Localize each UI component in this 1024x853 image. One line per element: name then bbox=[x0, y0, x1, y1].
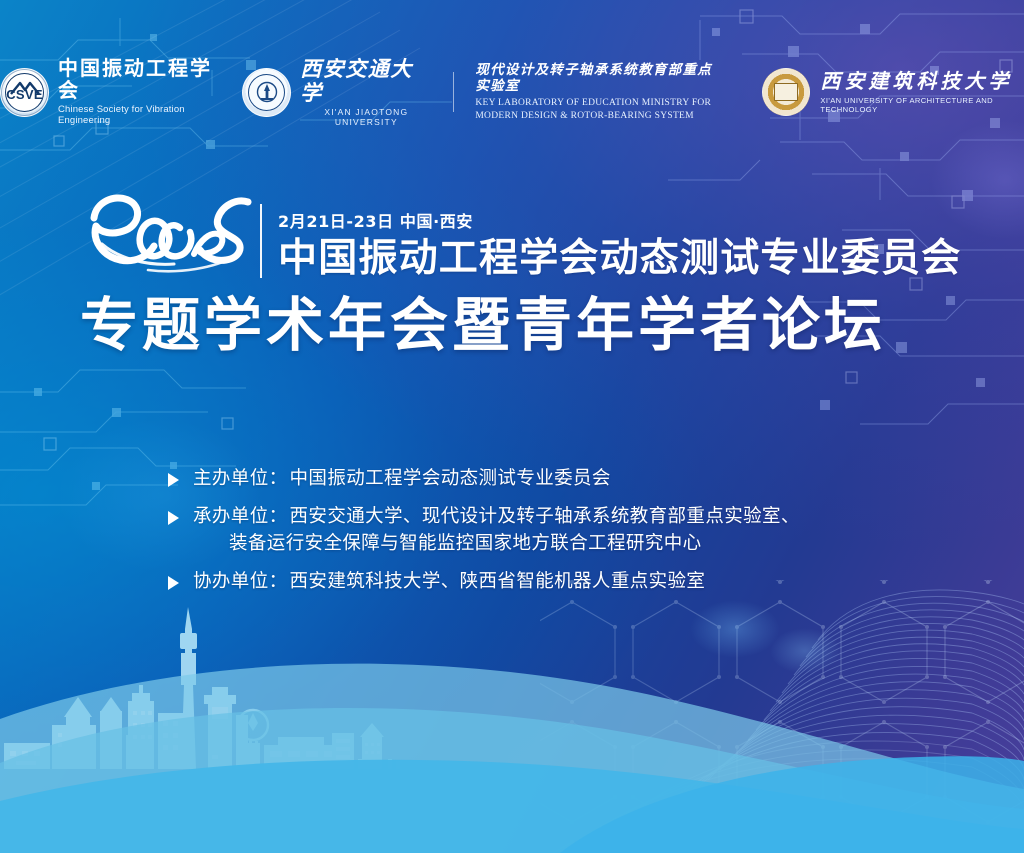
conference-poster: CSVE 中国振动工程学会 Chinese Society for Vibrat… bbox=[0, 0, 1024, 853]
year-script-logo-2025 bbox=[88, 188, 260, 280]
keylab-name-en-line2: MODERN DESIGN & ROTOR-BEARING SYSTEM bbox=[475, 110, 722, 123]
csve-name-en: Chinese Society for Vibration Engineerin… bbox=[58, 104, 216, 128]
keylab-name-en-line1: KEY LABORATORY OF EDUCATION MINISTRY FOR bbox=[475, 97, 722, 110]
title-block: 2月21日-23日 中国·西安 中国振动工程学会动态测试专业委员会 bbox=[0, 186, 1024, 280]
triangle-bullet-icon bbox=[168, 473, 182, 487]
xjtu-name-cn: 西安交通大学 bbox=[300, 57, 432, 103]
xauat-name-en: XI'AN UNIVERSITY OF ARCHITECTURE AND TEC… bbox=[820, 96, 1024, 114]
triangle-bullet-icon bbox=[168, 576, 182, 590]
csve-name-cn: 中国振动工程学会 bbox=[58, 57, 216, 102]
wave-shapes-bottom bbox=[0, 623, 1024, 853]
organizer-label: 协办单位： bbox=[193, 571, 288, 592]
xjtu-emblem-icon bbox=[242, 68, 291, 117]
logo-divider bbox=[453, 72, 454, 112]
headline-line-1: 中国振动工程学会动态测试专业委员会 bbox=[278, 239, 961, 278]
organizer-row: 承办单位：西安交通大学、现代设计及转子轴承系统教育部重点实验室、 装备运行安全保… bbox=[168, 504, 988, 557]
organizer-list: 主办单位：中国振动工程学会动态测试专业委员会 承办单位：西安交通大学、现代设计及… bbox=[168, 466, 988, 607]
logo-csve: CSVE 中国振动工程学会 Chinese Society for Vibrat… bbox=[0, 57, 216, 128]
year-script-logo-icon bbox=[88, 188, 260, 280]
headline-line-2: 专题学术年会暨青年学者论坛 bbox=[80, 296, 980, 354]
organizer-row: 协办单位：西安建筑科技大学、陕西省智能机器人重点实验室 bbox=[168, 569, 988, 595]
triangle-bullet-icon bbox=[168, 511, 182, 525]
csve-emblem-icon: CSVE bbox=[0, 68, 49, 117]
csve-badge-text: CSVE bbox=[6, 87, 43, 102]
organizer-label: 承办单位： bbox=[193, 506, 288, 527]
organizer-value-continuation: 装备运行安全保障与智能监控国家地方联合工程研究中心 bbox=[193, 531, 800, 557]
logo-xjtu: 西安交通大学 XI'AN JIAOTONG UNIVERSITY 现代设计及转子… bbox=[242, 57, 722, 126]
organizer-value: 中国振动工程学会动态测试专业委员会 bbox=[290, 468, 611, 489]
organizer-label: 主办单位： bbox=[193, 468, 288, 489]
xauat-name-cn: 西安建筑科技大学 bbox=[820, 70, 1024, 92]
organizer-value: 西安交通大学、现代设计及转子轴承系统教育部重点实验室、 bbox=[290, 506, 800, 527]
sponsor-logo-bar: CSVE 中国振动工程学会 Chinese Society for Vibrat… bbox=[0, 58, 1024, 126]
date-location-line: 2月21日-23日 中国·西安 bbox=[278, 208, 961, 232]
organizer-row: 主办单位：中国振动工程学会动态测试专业委员会 bbox=[168, 466, 988, 492]
title-vertical-divider bbox=[260, 204, 262, 278]
xjtu-name-en: XI'AN JIAOTONG UNIVERSITY bbox=[300, 107, 432, 127]
keylab-name-cn: 现代设计及转子轴承系统教育部重点实验室 bbox=[475, 62, 722, 94]
organizer-value: 西安建筑科技大学、陕西省智能机器人重点实验室 bbox=[290, 571, 706, 592]
xauat-emblem-icon bbox=[762, 68, 810, 116]
logo-xauat: 西安建筑科技大学 XI'AN UNIVERSITY OF ARCHITECTUR… bbox=[762, 68, 1024, 116]
